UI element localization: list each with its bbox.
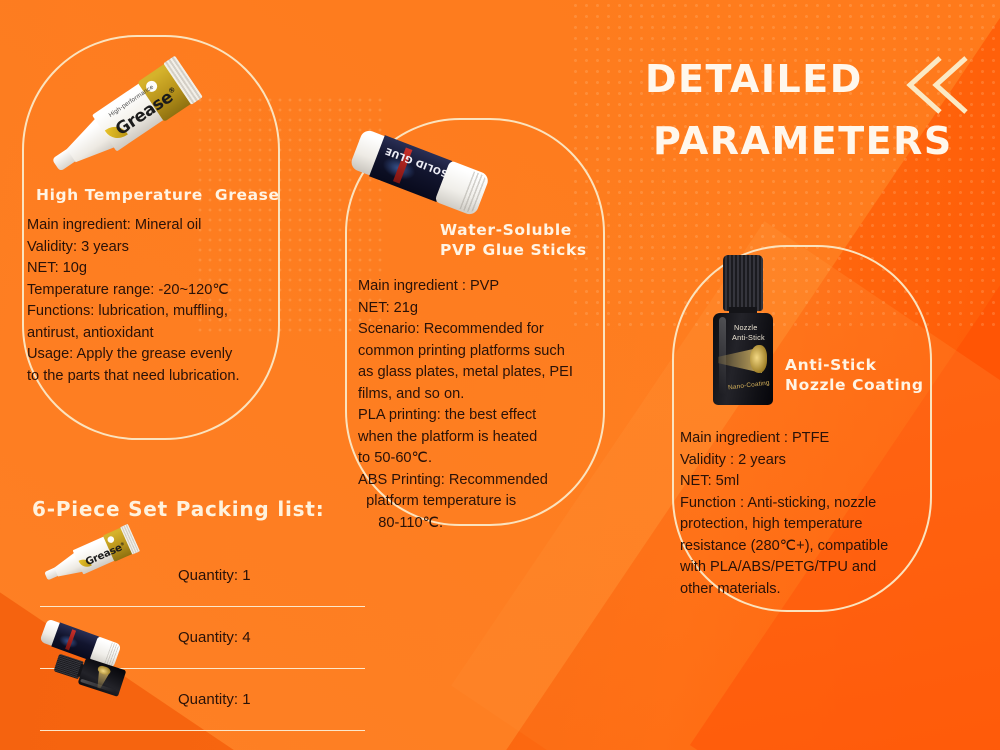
packing-list-quantity: Quantity: 1 [178,691,251,708]
double-chevron-left-icon [900,54,972,121]
anti-stick-nozzle-bottle-image: Nozzle Anti-Stick Nano-Coating [712,255,774,405]
panel-body-grease: Main ingredient: Mineral oil Validity: 3… [27,215,240,387]
panel-body-glue: Main ingredient : PVP NET: 21g Scenario:… [358,276,573,534]
panel-title-nozzle: Anti-Stick Nozzle Coating [785,355,924,395]
infographic-canvas: DETAILED PARAMETERS High-performance Gre… [0,0,1000,750]
panel-title-grease: High Temperature Grease [36,185,280,205]
bottle-label-line-1: Nozzle [734,323,758,332]
bottle-cap [723,255,763,311]
packing-list-divider [40,730,365,732]
panel-body-nozzle: Main ingredient : PTFE Validity : 2 year… [680,428,888,600]
bottle-label-line-2: Anti-Stick [732,333,765,342]
packing-list-quantity: Quantity: 4 [178,629,251,646]
packing-list-title: 6-Piece Set Packing list: [32,497,325,521]
panel-title-glue: Water-Soluble PVP Glue Sticks [440,220,587,260]
bottle-nozzle-graphic [750,345,767,373]
page-header: DETAILED PARAMETERS [645,48,990,172]
packing-list-quantity: Quantity: 1 [178,567,251,584]
